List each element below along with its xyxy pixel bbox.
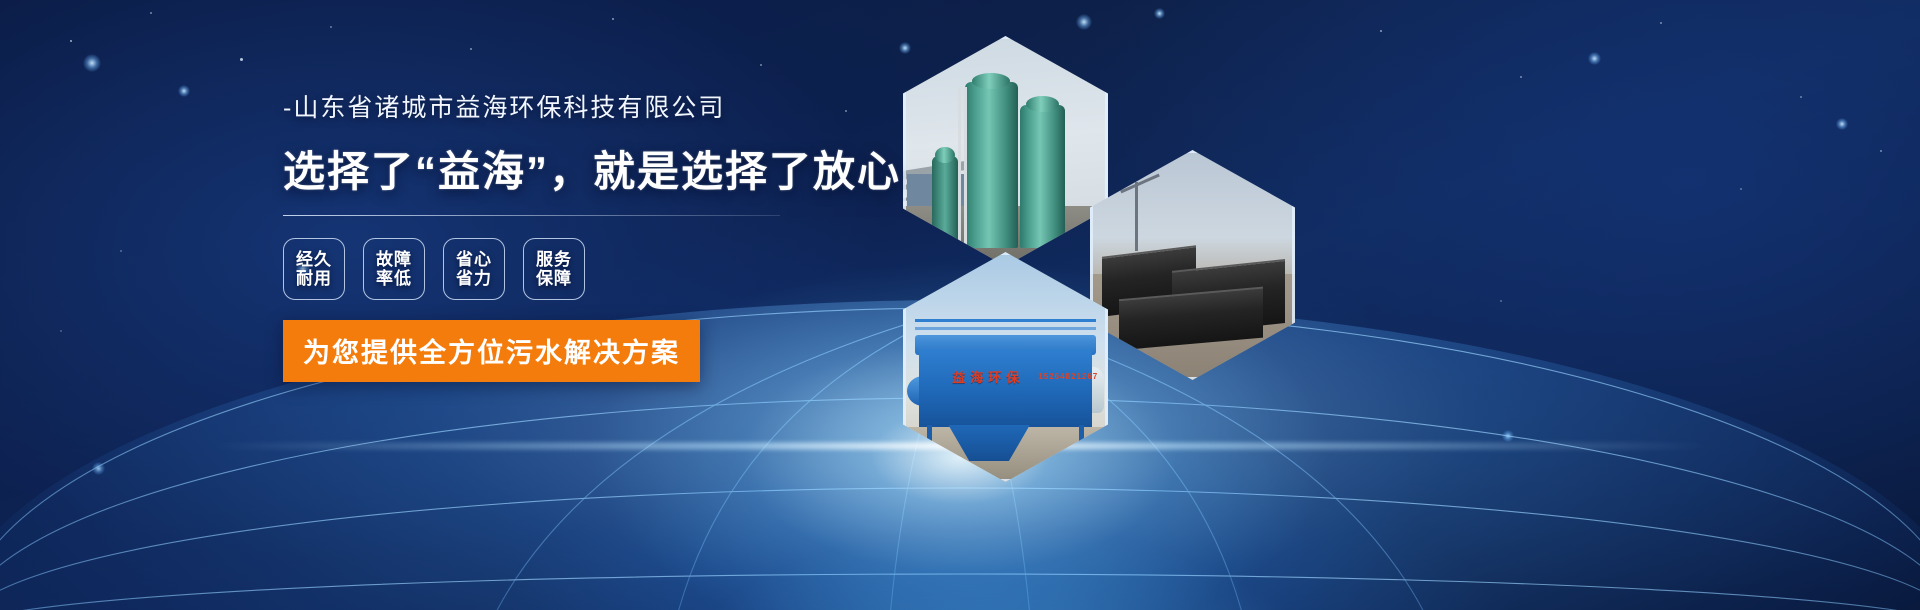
badge-line-1: 经久 — [296, 250, 332, 269]
badge-line-2: 省力 — [456, 269, 492, 288]
photo-hex-daf-machine: 益海环保 15264821267 — [903, 252, 1108, 482]
badge-line-1: 故障 — [376, 250, 412, 269]
feature-badge-durability[interactable]: 经久 耐用 — [283, 238, 345, 300]
feature-badge-easy-operation[interactable]: 省心 省力 — [443, 238, 505, 300]
feature-badge-list: 经久 耐用 故障 率低 省心 省力 服务 保障 — [283, 238, 843, 300]
feature-badge-low-failure[interactable]: 故障 率低 — [363, 238, 425, 300]
badge-line-1: 省心 — [456, 250, 492, 269]
hero-headline: 选择了“益海”，就是选择了放心 — [283, 138, 843, 199]
feature-badge-service-guarantee[interactable]: 服务 保障 — [523, 238, 585, 300]
badge-line-1: 服务 — [536, 250, 572, 269]
cta-button[interactable]: 为您提供全方位污水解决方案 — [283, 320, 700, 382]
company-name-eyebrow: -山东省诸城市益海环保科技有限公司 — [283, 88, 843, 124]
badge-line-2: 率低 — [376, 269, 412, 288]
badge-line-2: 耐用 — [296, 269, 332, 288]
badge-line-2: 保障 — [536, 269, 572, 288]
divider-rule — [283, 215, 780, 216]
photo-hex-scrubber-towers — [903, 36, 1108, 266]
hero-banner: 益海环保 15264821267 -山东省诸城市益海环保科技有限公司 选择了“益… — [0, 0, 1920, 610]
hero-copy-block: -山东省诸城市益海环保科技有限公司 选择了“益海”，就是选择了放心 经久 耐用 … — [283, 88, 843, 382]
photo-hex-buried-tanks — [1090, 150, 1295, 380]
